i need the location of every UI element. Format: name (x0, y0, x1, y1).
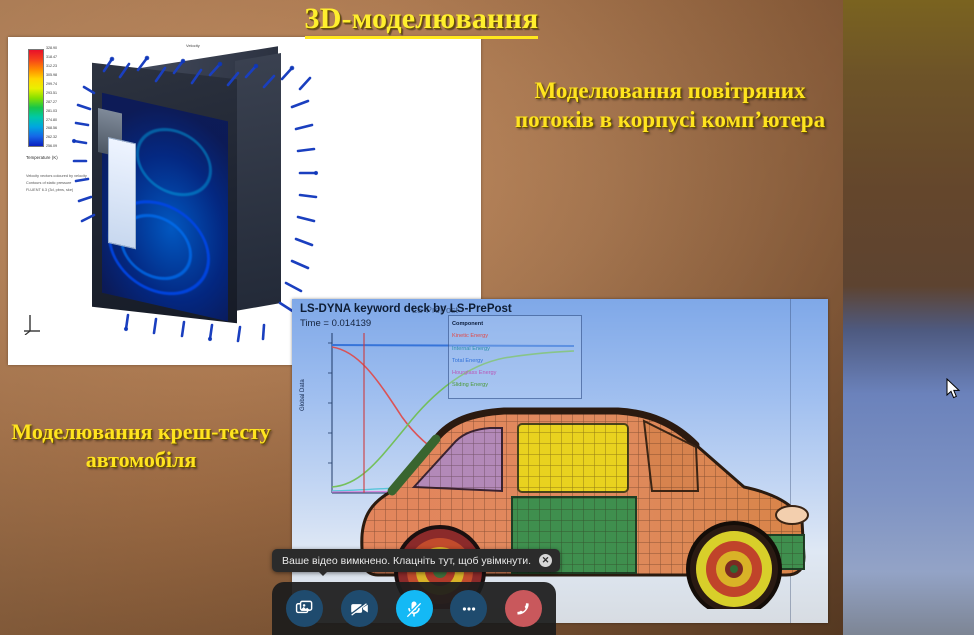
cfd-footer-line: Contours of static pressure (26, 180, 87, 187)
colorbar-tick: 274.80 (46, 119, 92, 123)
legend-header: Component (452, 318, 578, 330)
colorbar-tick: 293.51 (46, 92, 92, 96)
page-title: 3D-моделювання (0, 2, 843, 36)
cfd-footer-line: FLUENT 6.3 (3d, pbns, ske) (26, 187, 87, 194)
legend-item: Total Energy (452, 355, 578, 367)
psu-plate (108, 137, 136, 249)
chart-y-axis-label: Global Data (300, 379, 306, 411)
end-call-button[interactable] (505, 590, 542, 627)
legend-item: Kinetic Energy (452, 330, 578, 342)
camera-off-button[interactable] (341, 590, 378, 627)
presentation-slide: 3D-моделювання 328.90 318.47 312.23 305.… (0, 0, 843, 635)
legend-item: Hourglass Energy (452, 367, 578, 379)
legend-item: Sliding Energy (452, 379, 578, 391)
close-icon[interactable]: ✕ (539, 554, 552, 567)
front-wheel (688, 523, 780, 609)
pc-case-3d-model (92, 55, 282, 327)
case-side-face (235, 53, 281, 311)
ls-dyna-crash-image: LS-DYNA keyword deck by LS-PrePost LS-Pr… (292, 299, 828, 623)
screen-share-icon (295, 599, 314, 618)
case-front-face (92, 63, 237, 324)
share-screen-button[interactable] (286, 590, 323, 627)
cfd-footer-line: Velocity vectors coloured by velocity (26, 173, 87, 180)
colorbar-tick: 268.56 (46, 127, 92, 131)
colorbar-gradient (28, 49, 44, 147)
dyna-title-watermark: LS-PrePost (412, 305, 458, 315)
page-title-text: 3D-моделювання (305, 2, 539, 39)
video-off-tooltip[interactable]: Ваше відео вимкнено. Клацніть тут, щоб у… (272, 549, 560, 572)
mic-muted-button[interactable] (396, 590, 433, 627)
dyna-title: LS-DYNA keyword deck by LS-PrePost (300, 303, 512, 315)
camera-off-icon (349, 598, 370, 619)
colorbar-tick: 328.90 (46, 47, 92, 51)
legend-item: Internal Energy (452, 343, 578, 355)
colorbar-tick-labels: 328.90 318.47 312.23 305.98 299.74 293.5… (46, 47, 92, 149)
ellipsis-icon (459, 599, 479, 619)
colorbar-tick: 305.98 (46, 74, 92, 78)
cfd-top-label: Velocity (186, 43, 200, 48)
colorbar-tick: 281.03 (46, 110, 92, 114)
cfd-footer-text: Velocity vectors coloured by velocity Co… (26, 173, 87, 195)
more-options-button[interactable] (450, 590, 487, 627)
caption-airflow: Моделювання повітряних потоків в корпусі… (497, 76, 843, 135)
colorbar-tick: 256.09 (46, 145, 92, 149)
colorbar-tick: 299.74 (46, 83, 92, 87)
microphone-muted-icon (404, 599, 424, 619)
colorbar-tick: 318.47 (46, 56, 92, 60)
screen-share-view: 3D-моделювання 328.90 318.47 312.23 305.… (0, 0, 974, 635)
caption-crash: Моделювання креш-тесту автомобіля (0, 418, 282, 474)
axis-triad-icon (22, 311, 44, 335)
end-call-icon (513, 598, 535, 620)
tooltip-tail (318, 571, 328, 576)
car-fem-mesh-model (352, 399, 812, 609)
tooltip-message: Ваше відео вимкнено. Клацніть тут, щоб у… (282, 555, 531, 567)
colorbar-tick: 262.32 (46, 136, 92, 140)
colorbar-tick: 312.23 (46, 65, 92, 69)
colorbar-tick: 287.27 (46, 101, 92, 105)
colorbar-title: Temperature (K) (26, 155, 58, 160)
chart-legend: Component Kinetic Energy Internal Energy… (448, 315, 582, 399)
call-toolbar (272, 582, 556, 635)
mouse-cursor (946, 378, 962, 400)
